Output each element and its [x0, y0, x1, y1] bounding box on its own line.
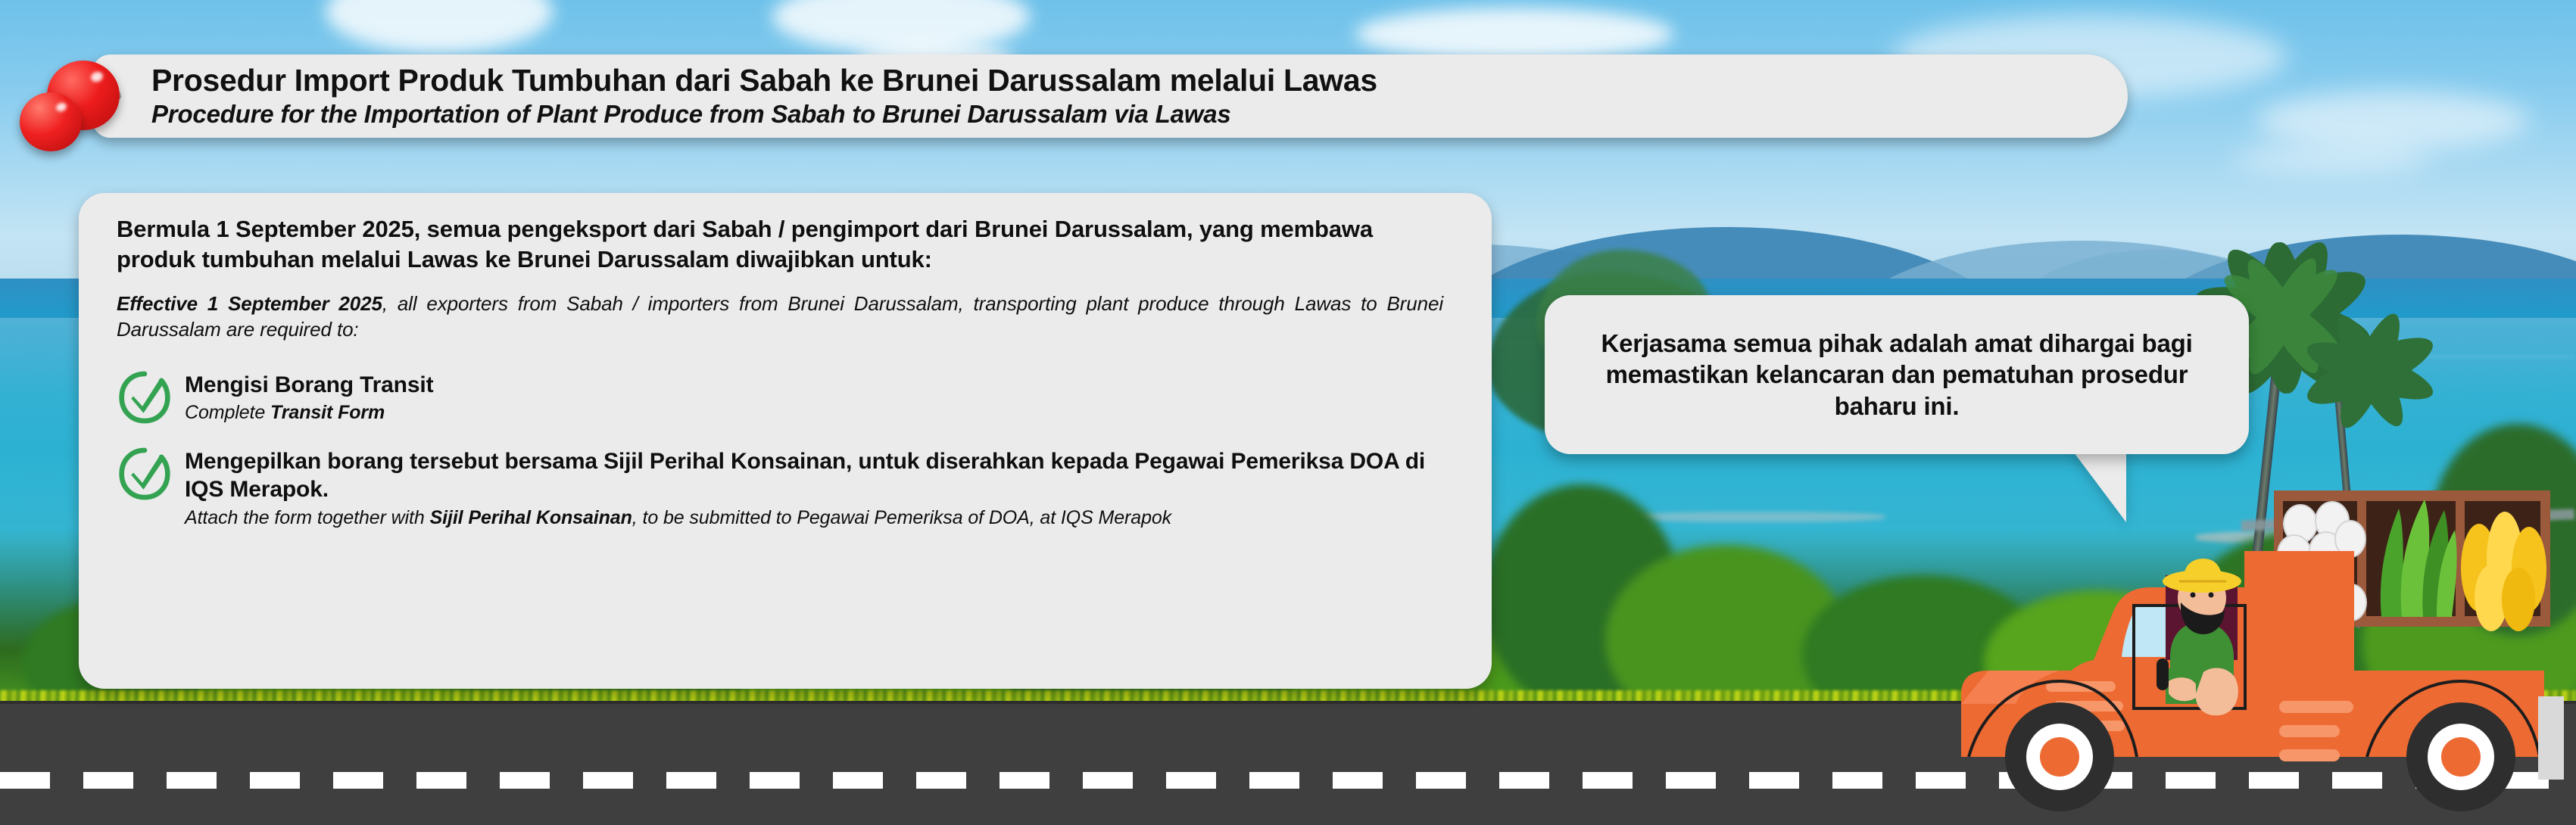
checklist-en-prefix: Complete: [185, 402, 270, 423]
green-check-circle-icon: [117, 369, 173, 429]
cloud: [1355, 8, 1673, 61]
shoreline: [1628, 512, 1885, 522]
checklist-item-en: Attach the form together with Sijil Peri…: [185, 506, 1449, 531]
checklist-item-text: Mengepilkan borang tersebut bersama Siji…: [185, 444, 1449, 530]
checklist-item-ms: Mengepilkan borang tersebut bersama Siji…: [185, 447, 1449, 503]
palm-tree-fronds: [2264, 303, 2491, 469]
speech-bubble-tail: [2072, 450, 2126, 522]
speech-bubble-text: Kerjasama semua pihak adalah amat diharg…: [1545, 328, 2249, 422]
cloud: [2234, 142, 2431, 176]
intro-en-date: Effective 1 September 2025: [117, 292, 382, 315]
checklist-en-bold: Sijil Perihal Konsainan: [430, 507, 632, 528]
checklist-item-en: Complete Transit Form: [185, 401, 433, 425]
intro-paragraph-en: Effective 1 September 2025, all exporter…: [117, 291, 1449, 343]
checklist-item: Mengepilkan borang tersebut bersama Siji…: [117, 444, 1449, 530]
intro-ms-date: Bermula 1 September 2025: [117, 216, 414, 242]
page-title-en: Procedure for the Importation of Plant P…: [151, 101, 2128, 129]
orange-pickup-truck-icon: [1938, 454, 2576, 825]
speech-bubble: Kerjasama semua pihak adalah amat diharg…: [1545, 295, 2249, 454]
title-banner: Prosedur Import Produk Tumbuhan dari Sab…: [92, 54, 2128, 138]
page-title-ms: Prosedur Import Produk Tumbuhan dari Sab…: [151, 64, 2128, 97]
cloud: [2256, 91, 2529, 150]
requirements-checklist: Mengisi Borang Transit Complete Transit …: [117, 368, 1449, 530]
checklist-item-ms: Mengisi Borang Transit: [185, 371, 433, 399]
pushpin-icon: [20, 92, 82, 151]
checklist-en-prefix: Attach the form together with: [185, 507, 430, 528]
truck-wheel: [2005, 702, 2114, 811]
checklist-item: Mengisi Borang Transit Complete Transit …: [117, 368, 1449, 429]
main-content-card: Bermula 1 September 2025, semua pengeksp…: [79, 193, 1492, 689]
checklist-item-text: Mengisi Borang Transit Complete Transit …: [185, 368, 433, 425]
green-check-circle-icon: [117, 446, 173, 506]
checklist-en-bold: Transit Form: [270, 402, 385, 423]
intro-paragraph-ms: Bermula 1 September 2025, semua pengeksp…: [117, 214, 1449, 276]
truck-wheel: [2406, 702, 2515, 811]
infographic-poster: Prosedur Import Produk Tumbuhan dari Sab…: [0, 0, 2576, 825]
checklist-en-suffix: , to be submitted to Pegawai Pemeriksa o…: [632, 507, 1171, 528]
